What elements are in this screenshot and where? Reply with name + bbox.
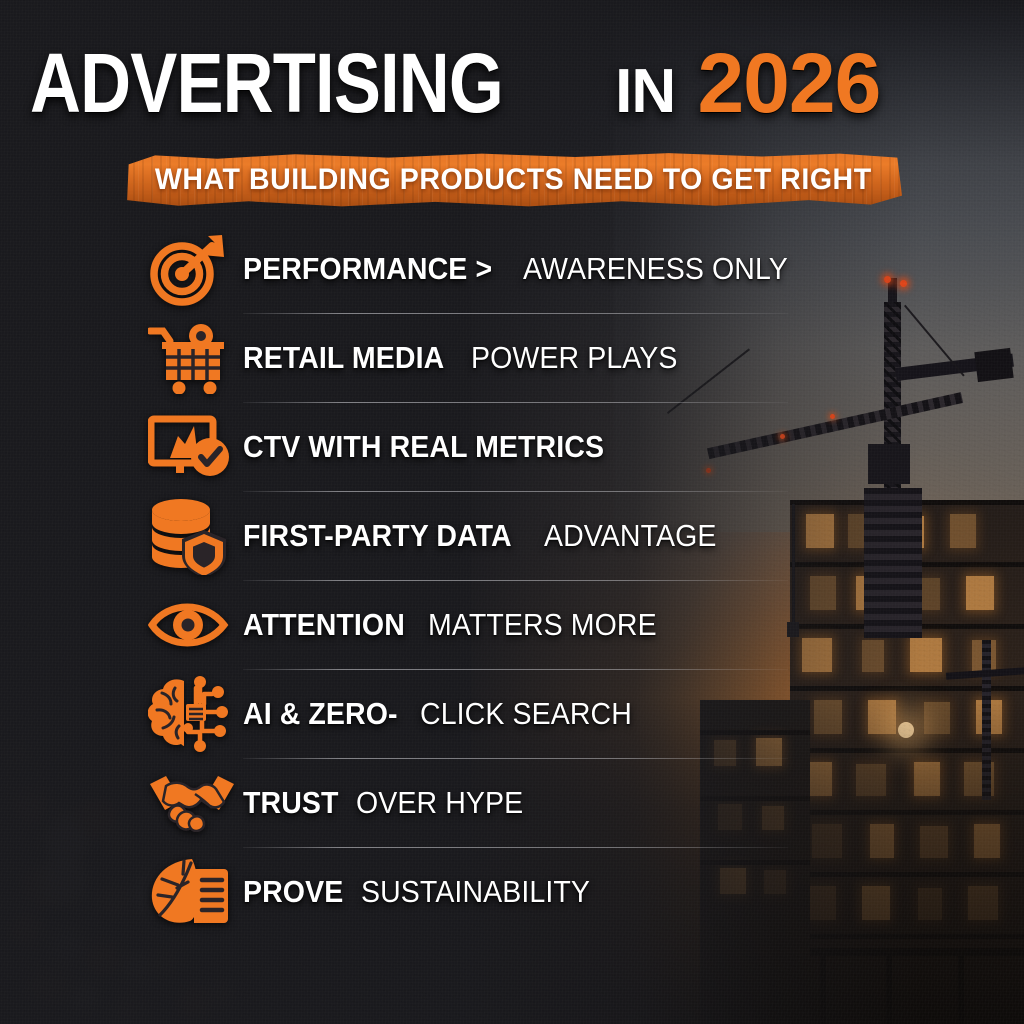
list-item-light: ADVANTAGE (544, 519, 717, 553)
list-item-label: TRUST OVER HYPE (243, 786, 537, 820)
list-item[interactable]: PERFORMANCE > AWARENESS ONLY (148, 224, 848, 313)
page-title: ADVERTISING IN 2026 (0, 40, 910, 135)
database-shield-icon (148, 497, 243, 575)
row-separator (243, 313, 788, 314)
shopping-cart-icon (148, 322, 243, 394)
list-item-light: POWER PLAYS (471, 341, 678, 375)
list-item-bold: RETAIL MEDIA (243, 341, 444, 375)
list-item-bold: CTV WITH REAL METRICS (243, 430, 604, 464)
headline-year: 2026 (697, 36, 880, 130)
list-item-bold: AI & ZERO- (243, 697, 398, 731)
headline-main: ADVERTISING (30, 40, 503, 126)
row-separator (243, 669, 788, 670)
list-item-bold: FIRST-PARTY DATA (243, 519, 512, 553)
leaf-document-icon (148, 857, 243, 927)
list-item-light: CLICK SEARCH (420, 697, 632, 731)
tv-check-icon (148, 414, 243, 480)
list-item-light: AWARENESS ONLY (523, 252, 788, 286)
list-item-label: RETAIL MEDIA POWER PLAYS (243, 341, 695, 375)
list-item[interactable]: TRUST OVER HYPE (148, 758, 848, 847)
infographic-poster: ADVERTISING IN 2026 WHAT BUILDING PRODUC… (0, 0, 1024, 1024)
list-item-label: AI & ZERO- CLICK SEARCH (243, 697, 650, 731)
list-item-bold: TRUST (243, 786, 339, 820)
handshake-icon (148, 774, 243, 832)
list-item-label: FIRST-PARTY DATA ADVANTAGE (243, 519, 731, 553)
row-separator (243, 580, 788, 581)
list-item-label: PERFORMANCE > AWARENESS ONLY (243, 252, 811, 286)
headline-connector: IN (615, 57, 675, 126)
row-separator (243, 402, 788, 403)
poster-content: ADVERTISING IN 2026 WHAT BUILDING PRODUC… (0, 0, 1024, 1024)
points-list: PERFORMANCE > AWARENESS ONLY (148, 224, 848, 936)
subtitle-text-wrapper: WHAT BUILDING PRODUCTS NEED TO GET RIGHT (124, 152, 902, 208)
list-item-label: PROVE SUSTAINABILITY (243, 875, 610, 909)
row-separator (243, 758, 788, 759)
list-item[interactable]: PROVE SUSTAINABILITY (148, 847, 848, 936)
eye-icon (148, 598, 243, 652)
list-item[interactable]: RETAIL MEDIA POWER PLAYS (148, 313, 848, 402)
list-item-bold: ATTENTION (243, 608, 405, 642)
list-item-light: MATTERS MORE (428, 608, 657, 642)
list-item[interactable]: CTV WITH REAL METRICS (148, 402, 848, 491)
list-item-bold: PERFORMANCE > (243, 252, 492, 286)
list-item-label: ATTENTION MATTERS MORE (243, 608, 676, 642)
list-item[interactable]: ATTENTION MATTERS MORE (148, 580, 848, 669)
list-item-light: OVER HYPE (356, 786, 523, 820)
subtitle-banner: WHAT BUILDING PRODUCTS NEED TO GET RIGHT (124, 152, 902, 208)
list-item-label: CTV WITH REAL METRICS (243, 430, 644, 464)
subtitle-text: WHAT BUILDING PRODUCTS NEED TO GET RIGHT (155, 163, 872, 197)
target-arrow-icon (148, 232, 243, 306)
ai-brain-circuit-icon (148, 676, 243, 752)
row-separator (243, 491, 788, 492)
list-item-light: SUSTAINABILITY (361, 875, 590, 909)
row-separator (243, 847, 788, 848)
list-item[interactable]: FIRST-PARTY DATA ADVANTAGE (148, 491, 848, 580)
list-item[interactable]: AI & ZERO- CLICK SEARCH (148, 669, 848, 758)
list-item-bold: PROVE (243, 875, 343, 909)
